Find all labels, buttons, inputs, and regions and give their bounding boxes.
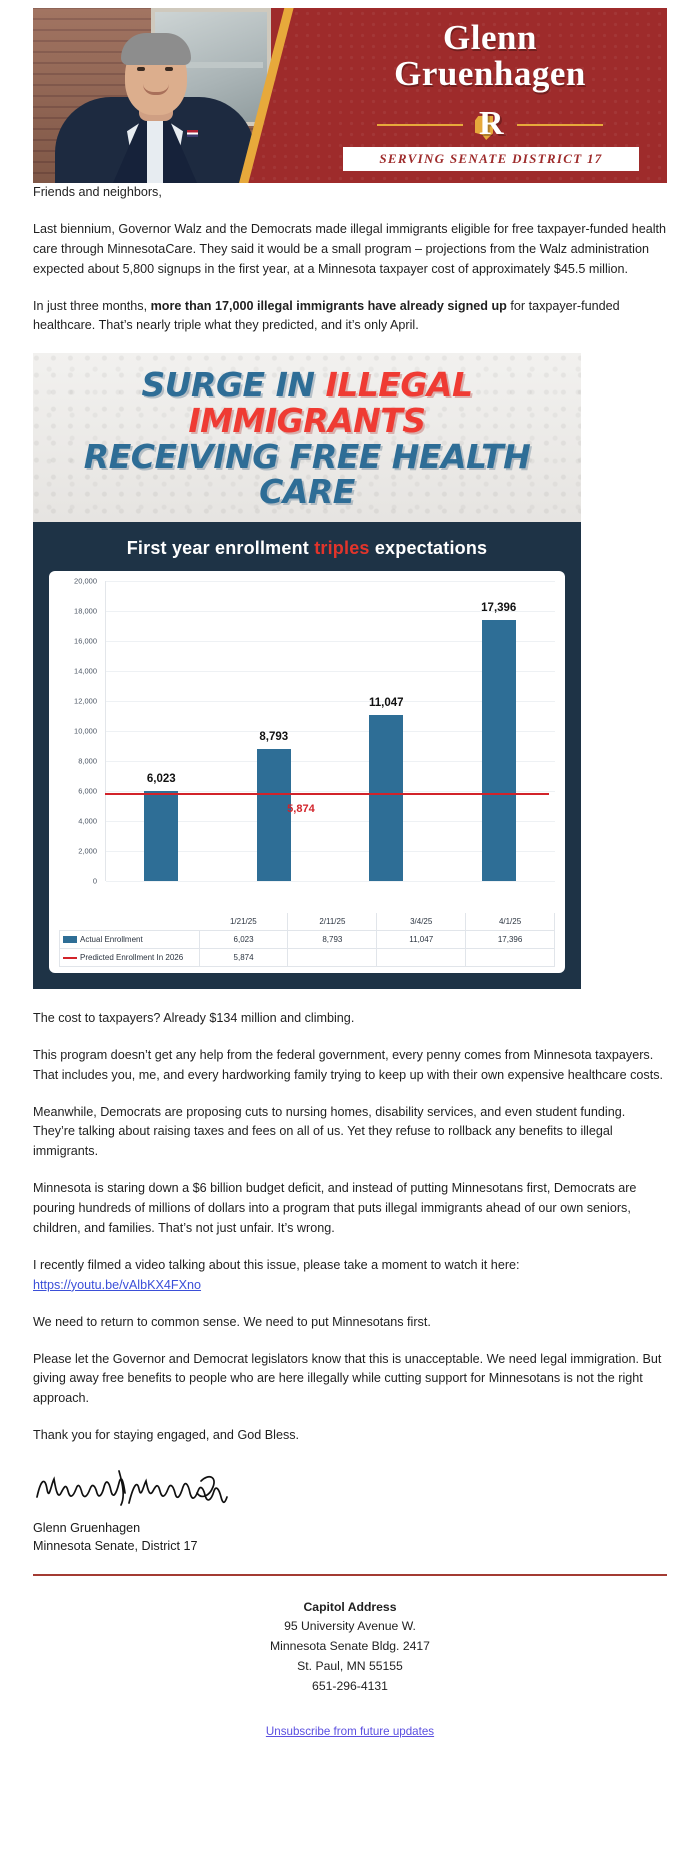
flag-pin-icon [187, 130, 198, 137]
table-header-row: 1/21/252/11/253/4/254/1/25 [60, 913, 555, 931]
chart-bars: 6,0238,79311,04717,396 [105, 581, 555, 881]
serving-district-text: SERVING SENATE DISTRICT 17 [379, 151, 602, 167]
chart-bar-cell[interactable]: 8,793 [218, 581, 331, 881]
chart-data-table: 1/21/252/11/253/4/254/1/25Actual Enrollm… [59, 913, 555, 967]
letter-body-bottom: The cost to taxpayers? Already $134 mill… [0, 1009, 700, 1446]
graphic-headline: Surge in Illegal Immigrants Receiving Fr… [33, 353, 581, 522]
y-tick-label: 8,000 [78, 756, 97, 765]
table-cell [377, 948, 466, 966]
footer-phone: 651-296-4131 [33, 1677, 667, 1697]
footer-address-line-2: Minnesota Senate Bldg. 2417 [33, 1637, 667, 1657]
paragraph-1: Last biennium, Governor Walz and the Dem… [33, 220, 667, 280]
headline-line-2: Receiving Free Health Care [33, 439, 581, 510]
paragraph-7: I recently filmed a video talking about … [33, 1256, 667, 1296]
hair-shape [121, 33, 191, 65]
chart-title-part-1: First year enrollment [127, 538, 314, 558]
rule-left [377, 124, 463, 126]
paragraph-6: Minnesota is staring down a $6 billion b… [33, 1179, 667, 1239]
unsubscribe-row: Unsubscribe from future updates [0, 1722, 700, 1740]
paragraph-2: In just three months, more than 17,000 i… [33, 297, 667, 337]
chart-title-part-2: expectations [370, 538, 488, 558]
footer-address-line-3: St. Paul, MN 55155 [33, 1657, 667, 1677]
table-row: Predicted Enrollment In 20265,874 [60, 948, 555, 966]
paragraph-2-lead: In just three months, [33, 299, 151, 313]
table-row-label: Actual Enrollment [60, 930, 200, 948]
paragraph-9: Please let the Governor and Democrat leg… [33, 1350, 667, 1410]
headline-line-1: Surge in Illegal Immigrants [33, 367, 581, 438]
legend-line-icon [63, 957, 77, 959]
y-tick-label: 6,000 [78, 786, 97, 795]
bar-value-label: 6,023 [116, 773, 206, 785]
y-tick-label: 20,000 [74, 576, 97, 585]
eye-left [137, 67, 145, 71]
email-newsletter: Glenn Gruenhagen R SERVING SENATE DISTRI… [0, 8, 700, 1740]
table-corner-cell [60, 913, 200, 931]
legend-label: Predicted Enrollment In 2026 [80, 953, 183, 962]
chart-bar-cell[interactable]: 6,023 [105, 581, 218, 881]
table-column-header: 4/1/25 [466, 913, 555, 931]
video-link[interactable]: https://youtu.be/vAlbKX4FXno [33, 1278, 201, 1292]
predicted-enrollment-label: 5,874 [287, 803, 315, 815]
signature-title: Minnesota Senate, District 17 [33, 1537, 667, 1555]
table-cell: 5,874 [199, 948, 288, 966]
table-cell [466, 948, 555, 966]
bar[interactable] [369, 715, 403, 881]
letter-body-top: Friends and neighbors, Last biennium, Go… [0, 183, 700, 336]
party-letter: R [479, 107, 509, 142]
chart-bar-cell[interactable]: 17,396 [443, 581, 556, 881]
party-logo-row: R [325, 108, 655, 142]
banner-last-name: Gruenhagen [325, 56, 655, 92]
gridline [106, 881, 555, 882]
bar-value-label: 11,047 [341, 697, 431, 709]
table-cell: 17,396 [466, 930, 555, 948]
table-cell [288, 948, 377, 966]
legend-label: Actual Enrollment [80, 935, 143, 944]
signature-svg [33, 1463, 253, 1515]
y-tick-label: 0 [93, 876, 97, 885]
banner-first-name: Glenn [325, 20, 655, 56]
footer-title: Capitol Address [33, 1598, 667, 1618]
paragraph-2-bold: more than 17,000 illegal immigrants have… [151, 299, 507, 313]
chart-card: 20,00018,00016,00014,00012,00010,0008,00… [49, 571, 565, 973]
signature-name: Glenn Gruenhagen [33, 1519, 667, 1537]
y-tick-label: 10,000 [74, 726, 97, 735]
legislator-photo [33, 8, 271, 183]
republican-r-icon: R [471, 108, 509, 142]
paragraph-4: This program doesn’t get any help from t… [33, 1046, 667, 1086]
greeting: Friends and neighbors, [33, 183, 667, 203]
bar[interactable] [144, 791, 178, 881]
footer-address-line-1: 95 University Avenue W. [33, 1617, 667, 1637]
paragraph-10: Thank you for staying engaged, and God B… [33, 1426, 667, 1446]
bar-value-label: 17,396 [454, 602, 544, 614]
table-cell: 8,793 [288, 930, 377, 948]
eye-right [165, 67, 173, 71]
signature-block: Glenn Gruenhagen Minnesota Senate, Distr… [0, 1519, 700, 1556]
table-column-header: 1/21/25 [199, 913, 288, 931]
bar[interactable] [482, 620, 516, 881]
y-tick-label: 4,000 [78, 816, 97, 825]
table-column-header: 2/11/25 [288, 913, 377, 931]
chart-title-highlight: triples [314, 538, 369, 558]
y-tick-label: 12,000 [74, 696, 97, 705]
predicted-enrollment-line [105, 793, 549, 795]
chart-title: First year enrollment triples expectatio… [49, 538, 565, 559]
paragraph-8: We need to return to common sense. We ne… [33, 1313, 667, 1333]
paragraph-3: The cost to taxpayers? Already $134 mill… [33, 1009, 667, 1029]
serving-district-banner: SERVING SENATE DISTRICT 17 [343, 147, 639, 171]
table-cell: 11,047 [377, 930, 466, 948]
y-tick-label: 16,000 [74, 636, 97, 645]
unsubscribe-link[interactable]: Unsubscribe from future updates [266, 1725, 434, 1738]
table-column-header: 3/4/25 [377, 913, 466, 931]
y-tick-label: 18,000 [74, 606, 97, 615]
bar[interactable] [257, 749, 291, 881]
chart-plot-area: 20,00018,00016,00014,00012,00010,0008,00… [59, 581, 555, 911]
header-banner: Glenn Gruenhagen R SERVING SENATE DISTRI… [33, 8, 667, 183]
table-row-label: Predicted Enrollment In 2026 [60, 948, 200, 966]
banner-name-block: Glenn Gruenhagen [325, 20, 655, 91]
table-row: Actual Enrollment6,0238,79311,04717,396 [60, 930, 555, 948]
paragraph-5: Meanwhile, Democrats are proposing cuts … [33, 1103, 667, 1163]
chart-panel: First year enrollment triples expectatio… [33, 522, 581, 989]
chart-bar-cell[interactable]: 11,047 [330, 581, 443, 881]
footer-address-block: Capitol Address 95 University Avenue W. … [0, 1576, 700, 1703]
y-tick-label: 2,000 [78, 846, 97, 855]
table-cell: 6,023 [199, 930, 288, 948]
portrait-figure [55, 23, 255, 183]
signature-image [33, 1463, 667, 1515]
rule-right [517, 124, 603, 126]
bar-value-label: 8,793 [229, 731, 319, 743]
chart-graphic: Surge in Illegal Immigrants Receiving Fr… [33, 353, 581, 989]
video-intro-text: I recently filmed a video talking about … [33, 1258, 520, 1272]
y-axis-labels: 20,00018,00016,00014,00012,00010,0008,00… [59, 581, 101, 881]
legend-swatch-icon [63, 936, 77, 943]
headline-surge-in: Surge in [141, 365, 325, 404]
y-tick-label: 14,000 [74, 666, 97, 675]
